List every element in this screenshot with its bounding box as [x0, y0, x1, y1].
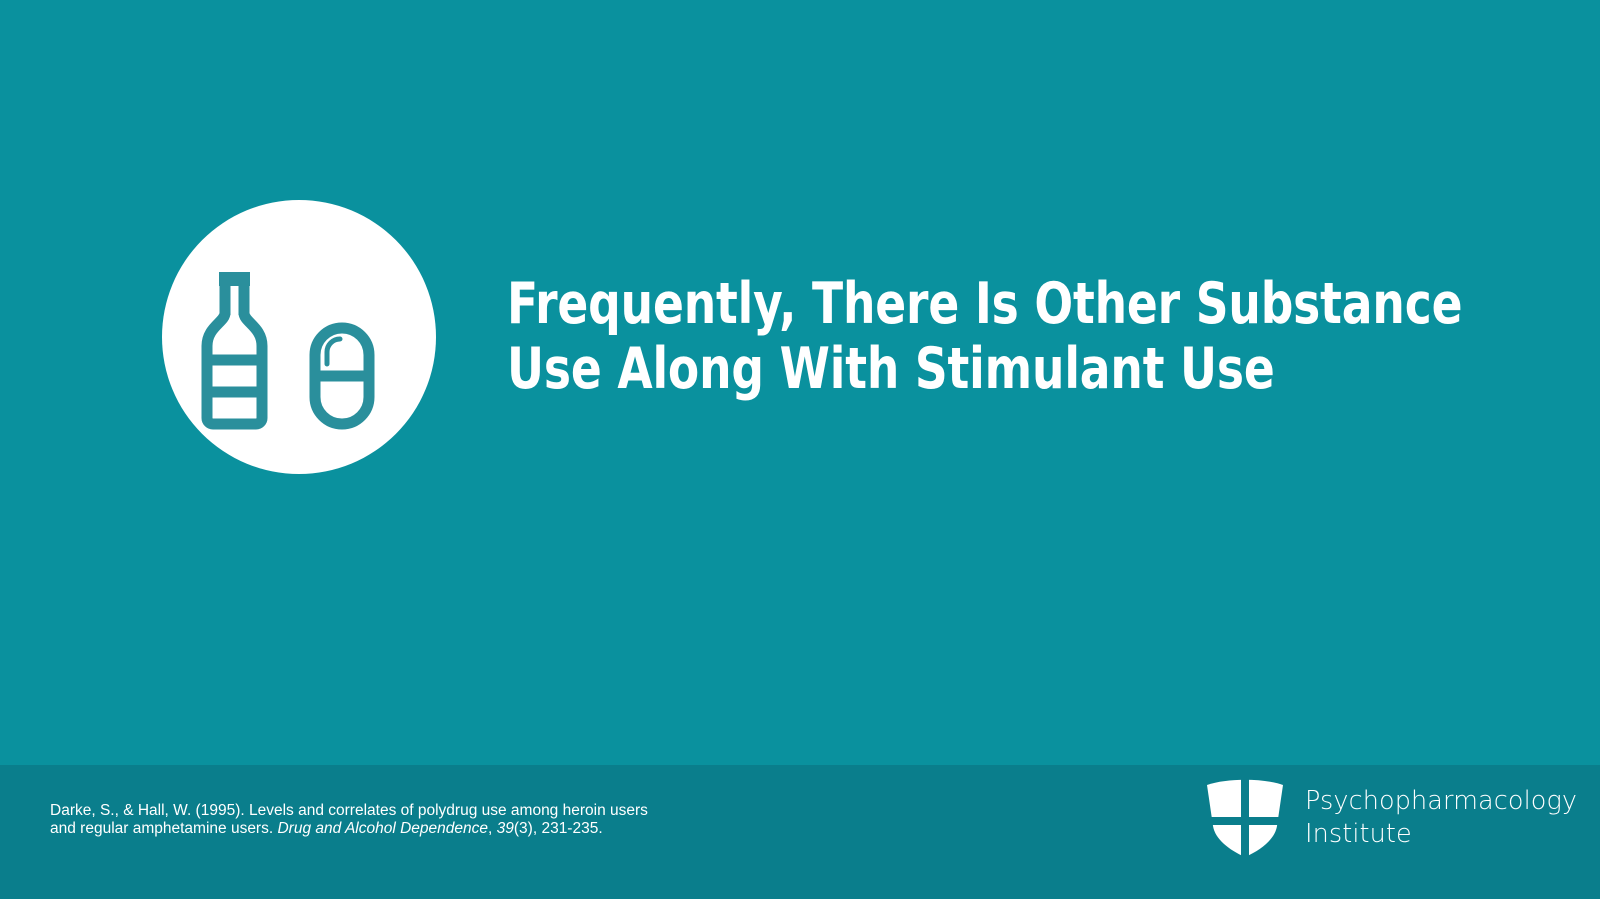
brand-logo-line-1: Psychopharmacology: [1305, 785, 1577, 818]
shield-logo-icon: [1203, 779, 1287, 857]
citation-line-2: and regular amphetamine users. Drug and …: [50, 820, 770, 838]
citation-volume: 39: [497, 820, 514, 837]
brand-logo-line-2: Institute: [1305, 818, 1577, 851]
citation-line-1: Darke, S., & Hall, W. (1995). Levels and…: [50, 802, 770, 820]
icon-badge-circle: [162, 200, 436, 474]
citation-line-2-suffix: (3), 231-235.: [514, 820, 603, 837]
slide-canvas: Frequently, There Is Other Substance Use…: [0, 0, 1600, 899]
title-line-1: Frequently, There Is Other Substance: [507, 272, 1275, 337]
brand-logo-text: Psychopharmacology Institute: [1305, 785, 1577, 851]
citation-line-2-mid: ,: [488, 820, 497, 837]
title-line-2: Use Along With Stimulant Use: [507, 337, 1275, 402]
citation-line-2-prefix: and regular amphetamine users.: [50, 820, 277, 837]
citation-journal-name: Drug and Alcohol Dependence: [277, 820, 488, 837]
page-title: Frequently, There Is Other Substance Use…: [507, 272, 1275, 402]
citation-reference: Darke, S., & Hall, W. (1995). Levels and…: [50, 802, 770, 838]
bottle-and-pill-icon: [162, 200, 436, 474]
brand-logo: Psychopharmacology Institute: [1203, 779, 1543, 859]
